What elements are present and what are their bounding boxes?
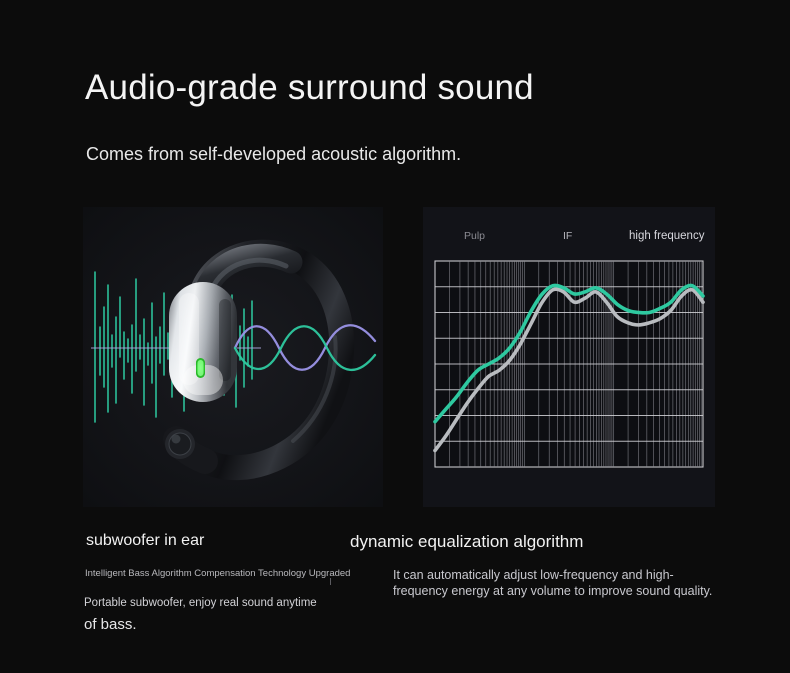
chart-label-low: Pulp [464, 230, 485, 242]
chart-label-high: high frequency [629, 230, 704, 242]
page-subtitle: Comes from self-developed acoustic algor… [86, 144, 461, 165]
frequency-response-chart [423, 253, 715, 478]
left-caption-title: subwoofer in ear [86, 532, 204, 550]
chart-label-mid: IF [563, 230, 572, 242]
left-caption-mid: Portable subwoofer, enjoy real sound any… [84, 596, 384, 610]
left-caption-small: Intelligent Bass Algorithm Compensation … [85, 568, 365, 580]
page-title: Audio-grade surround sound [85, 68, 534, 108]
chart-band-labels: Pulp IF high frequency [423, 207, 715, 253]
frequency-response-chart-panel: Pulp IF high frequency [423, 207, 715, 507]
product-photo-panel [83, 207, 383, 507]
promo-page: Audio-grade surround sound Comes from se… [0, 0, 790, 673]
right-caption-title: dynamic equalization algorithm [350, 532, 583, 552]
left-caption-big: of bass. [84, 616, 137, 634]
earbud-illustration [83, 207, 383, 507]
caption-tick-mark [330, 578, 331, 585]
right-caption-body: It can automatically adjust low-frequenc… [393, 568, 728, 599]
